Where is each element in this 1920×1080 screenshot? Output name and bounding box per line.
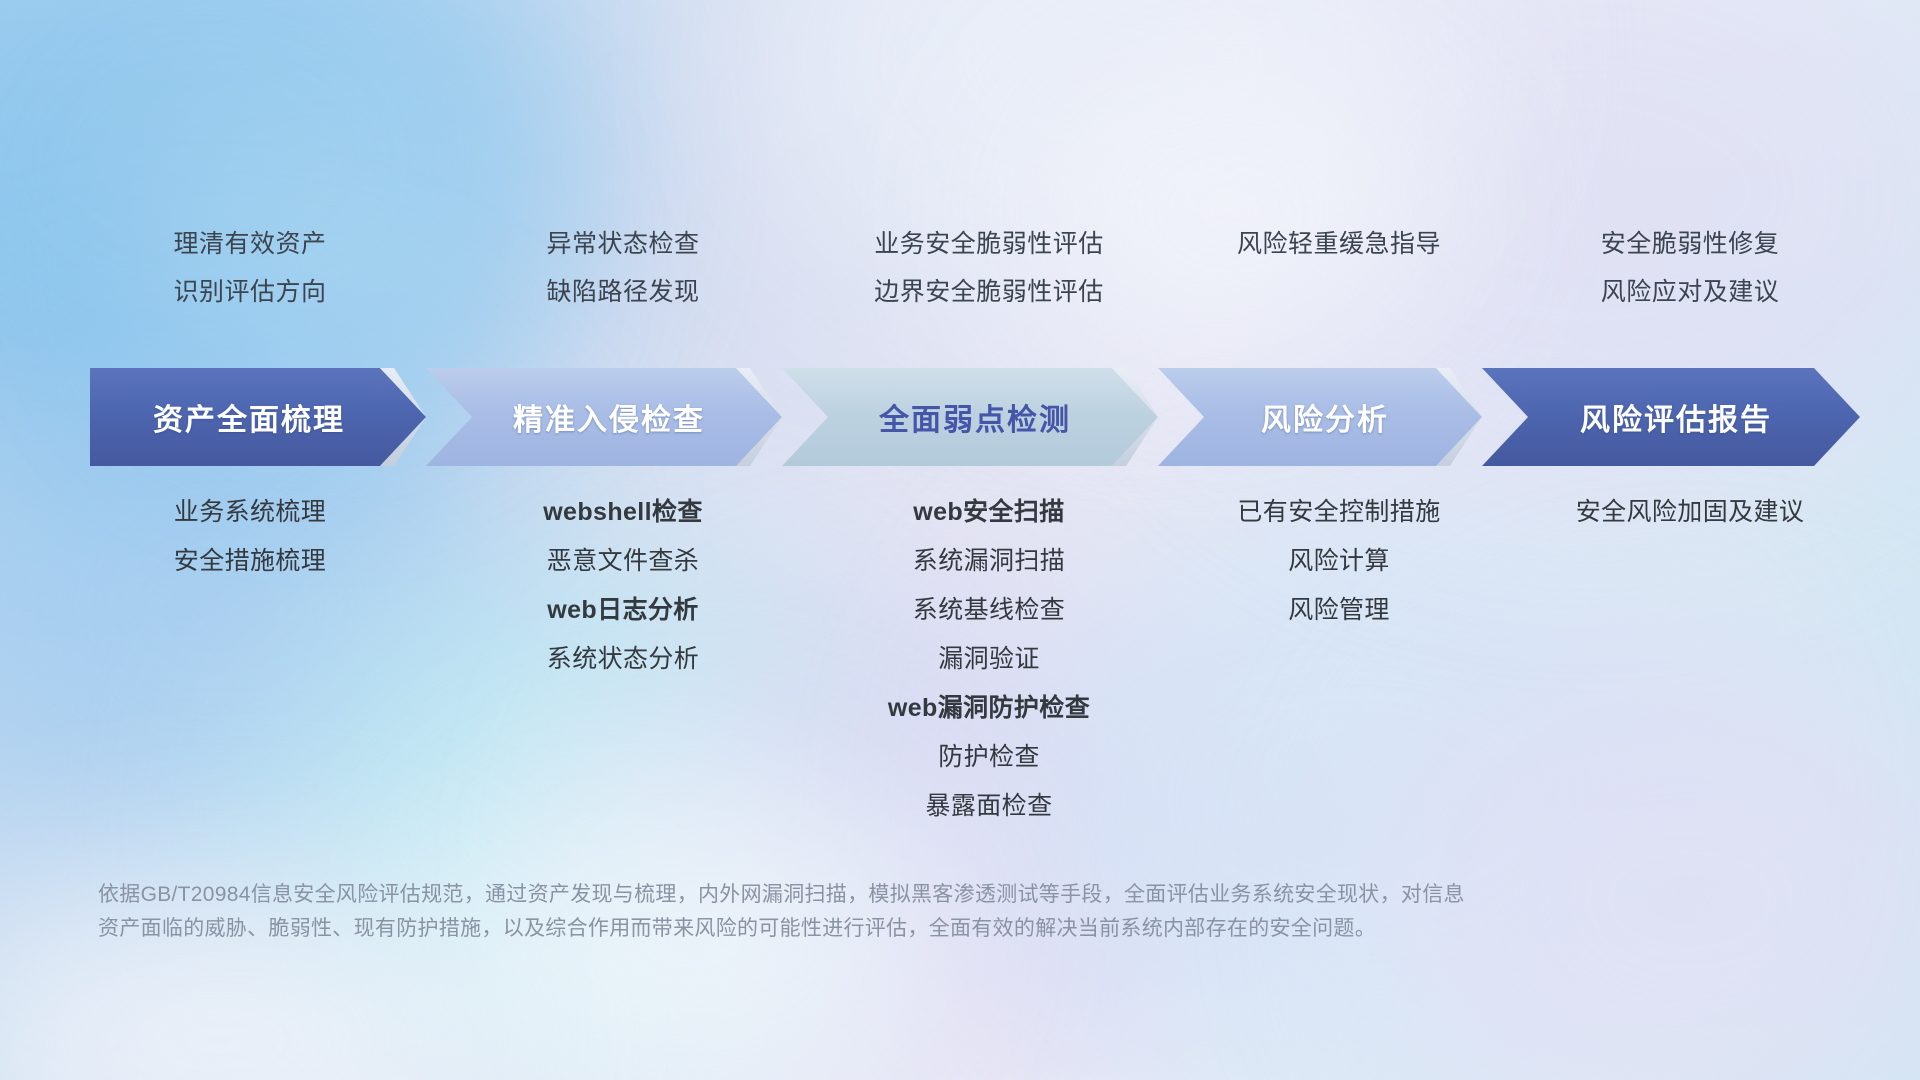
slide-canvas: 理清有效资产识别评估方向异常状态检查缺陷路径发现业务安全脆弱性评估边界安全脆弱性…: [0, 0, 1920, 1080]
detail-list-item: 漏洞验证: [729, 647, 1249, 672]
stage-title-risk-analysis: 风险分析: [1261, 395, 1389, 439]
process-stage-risk-report[interactable]: 风险评估报告: [1482, 368, 1860, 466]
process-stage-weakness-detection[interactable]: 全面弱点检测: [782, 368, 1158, 466]
detail-list-item: 防护检查: [729, 745, 1249, 770]
detail-list-item: 风险管理: [1079, 598, 1599, 623]
stage-detail-list-risk-report: 安全风险加固及建议: [1430, 500, 1920, 525]
footer-description: 依据GB/T20984信息安全风险评估规范，通过资产发现与梳理，内外网漏洞扫描，…: [98, 878, 1798, 946]
stage-title-risk-report: 风险评估报告: [1580, 395, 1772, 439]
process-stage-asset-inventory[interactable]: 资产全面梳理: [90, 368, 426, 466]
detail-list-item: web漏洞防护检查: [729, 696, 1249, 721]
footer-line-2: 资产面临的威胁、脆弱性、现有防护措施，以及综合作用而带来风险的可能性进行评估，全…: [98, 912, 1798, 946]
detail-list-item: 安全风险加固及建议: [1430, 500, 1920, 525]
process-chevron-band: 资产全面梳理精准入侵检查全面弱点检测风险分析风险评估报告: [90, 368, 1860, 466]
stage-top-labels-row: 理清有效资产识别评估方向异常状态检查缺陷路径发现业务安全脆弱性评估边界安全脆弱性…: [0, 232, 1920, 332]
stage-top-labels-risk-report: 安全脆弱性修复风险应对及建议: [1430, 232, 1920, 305]
diagram-content: 理清有效资产识别评估方向异常状态检查缺陷路径发现业务安全脆弱性评估边界安全脆弱性…: [0, 0, 1920, 1080]
stage-title-intrusion-check: 精准入侵检查: [513, 395, 705, 439]
footer-line-1: 依据GB/T20984信息安全风险评估规范，通过资产发现与梳理，内外网漏洞扫描，…: [98, 878, 1798, 912]
stage-title-weakness-detection: 全面弱点检测: [879, 395, 1071, 439]
process-stage-risk-analysis[interactable]: 风险分析: [1158, 368, 1482, 466]
process-stage-intrusion-check[interactable]: 精准入侵检查: [426, 368, 782, 466]
top-label-line: 风险应对及建议: [1430, 280, 1920, 305]
stage-title-asset-inventory: 资产全面梳理: [153, 395, 345, 439]
top-label-line: 安全脆弱性修复: [1430, 232, 1920, 257]
detail-list-item: 风险计算: [1079, 549, 1599, 574]
top-label-line: 边界安全脆弱性评估: [729, 280, 1249, 305]
detail-list-item: 暴露面检查: [729, 794, 1249, 819]
